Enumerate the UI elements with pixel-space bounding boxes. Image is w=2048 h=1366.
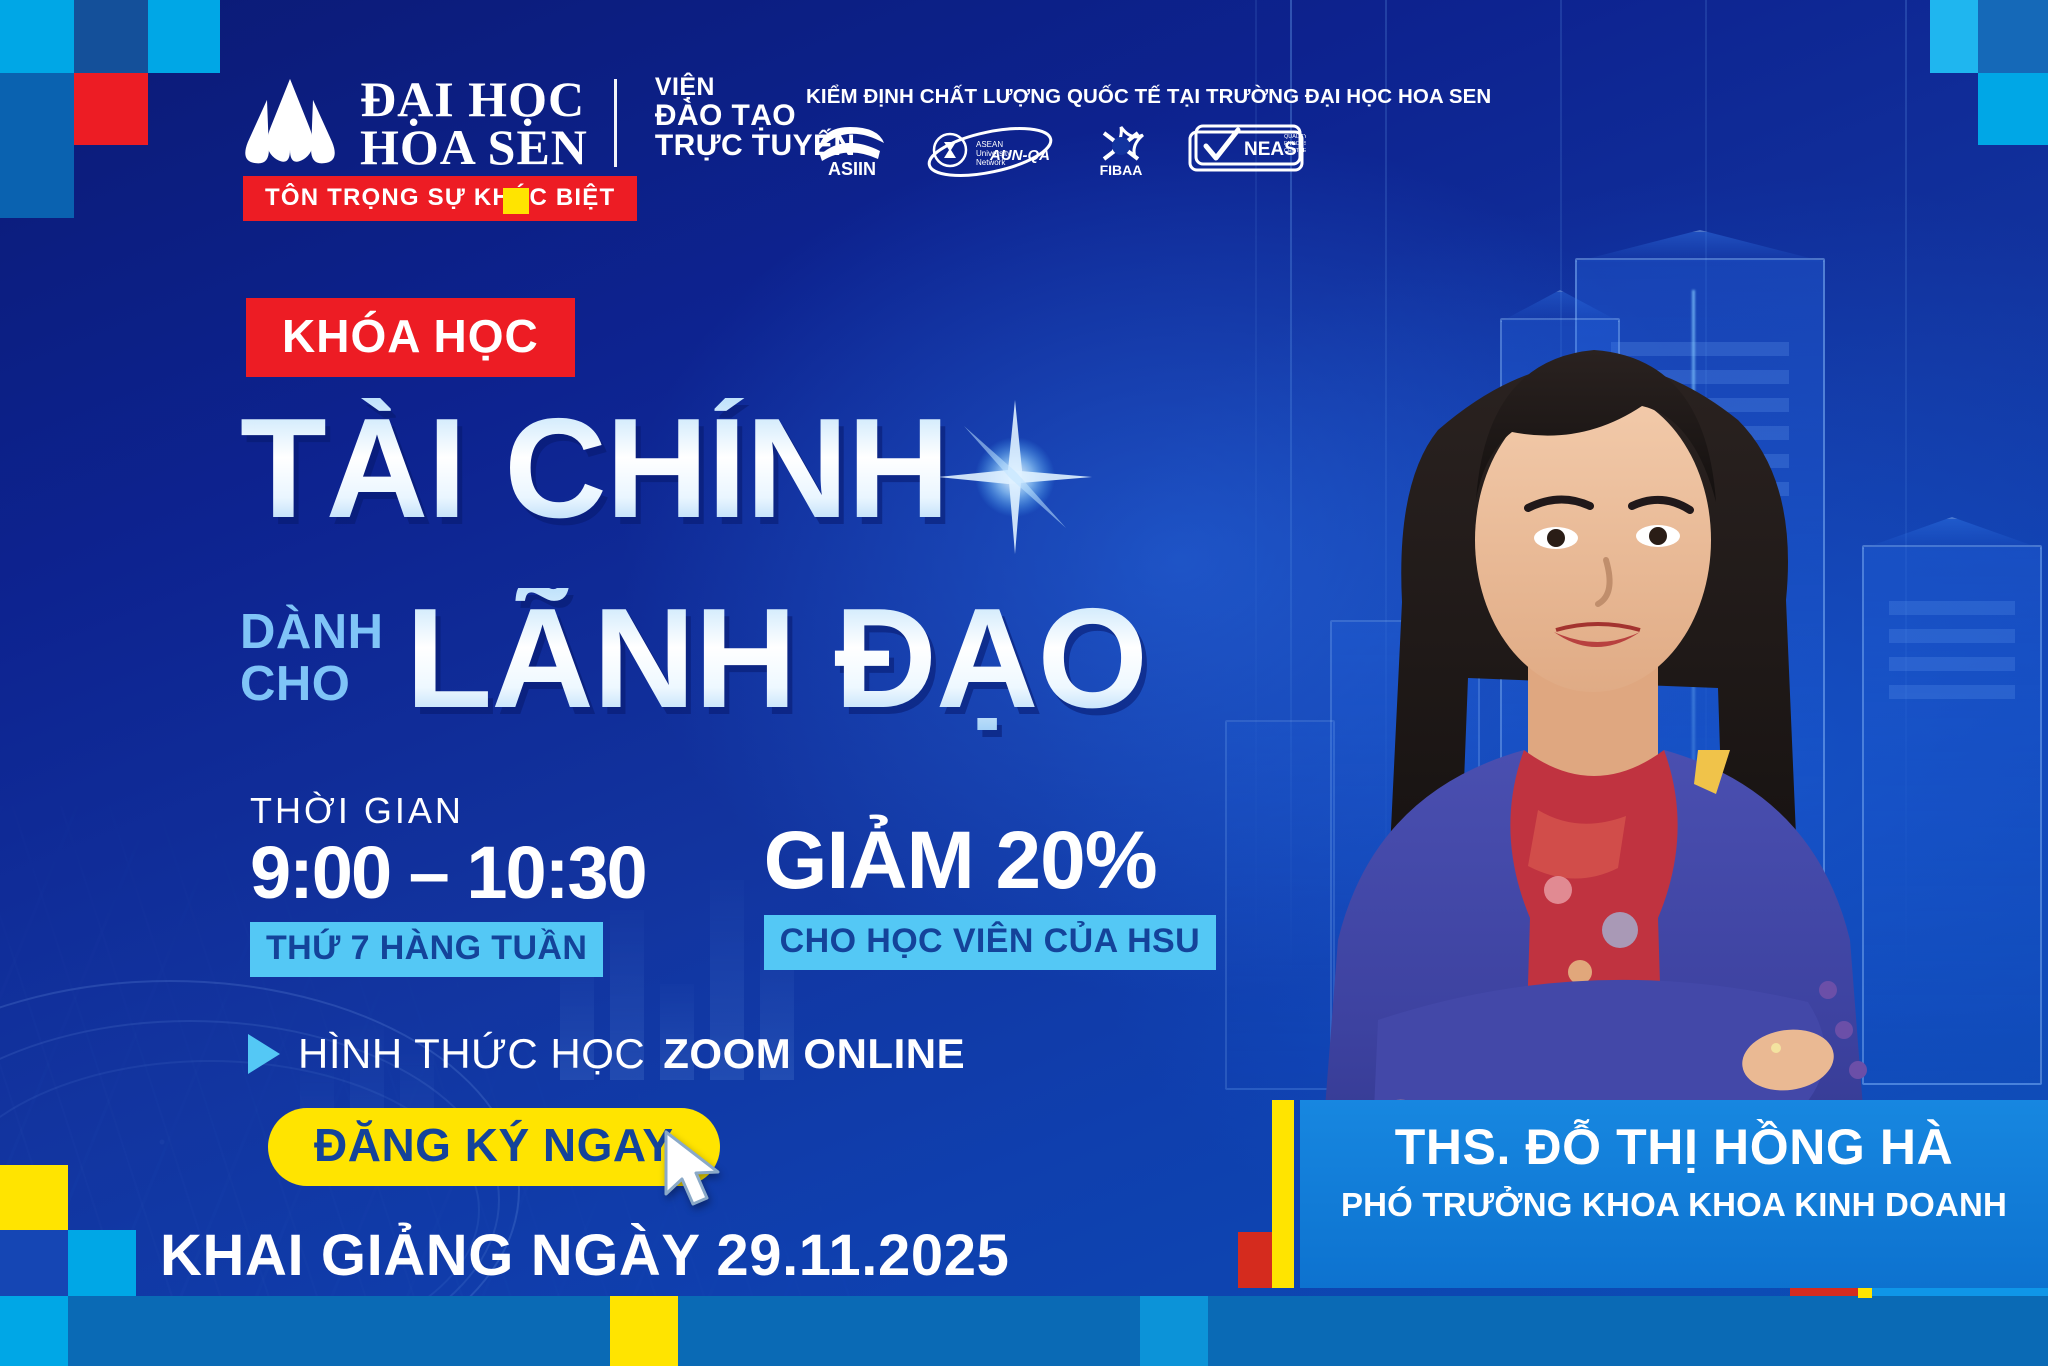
play-triangle-icon — [248, 1034, 280, 1074]
brand-logo[interactable]: ĐẠI HỌC HOA SEN VIỆN ĐÀO TẠO TRỰC TUYẾN — [242, 75, 855, 171]
fibaa-logo: FIBAA — [1082, 121, 1160, 179]
svg-text:CENTRE: CENTRE — [1284, 148, 1306, 154]
deco-stripe-yellow-speaker — [1272, 1100, 1294, 1288]
deco-block-navy-bl — [0, 1230, 68, 1296]
format-line: HÌNH THỨC HỌC ZOOM ONLINE — [248, 1030, 965, 1078]
time-block: THỜI GIAN 9:00 – 10:30 THỨ 7 HÀNG TUẦN — [250, 790, 646, 977]
title-prefix-line-2: CHO — [240, 659, 384, 711]
deco-block-red-speaker — [1238, 1232, 1274, 1288]
time-value: 9:00 – 10:30 — [250, 834, 646, 912]
deco-block-cyan-tr2 — [1978, 73, 2048, 145]
asiin-logo: ASIIN — [806, 121, 898, 179]
time-chip: THỨ 7 HÀNG TUẦN — [250, 922, 603, 977]
deco-block-cyan-tl2 — [148, 0, 220, 73]
speaker-name: THS. ĐỖ THỊ HỒNG HÀ — [1300, 1118, 2048, 1176]
register-button-label: ĐĂNG KÝ NGAY — [314, 1122, 674, 1168]
accreditation-section: KIỂM ĐỊNH CHẤT LƯỢNG QUỐC TẾ TẠI TRƯỜNG … — [806, 85, 1306, 181]
title-line-1: TÀI CHÍNH — [240, 398, 949, 540]
deco-block-yellow-bb — [610, 1296, 678, 1366]
university-line-2: HOA SEN — [360, 123, 588, 171]
discount-block: GIẢM 20% CHO HỌC VIÊN CỦA HSU — [764, 790, 1216, 970]
format-prefix: HÌNH THỨC HỌC — [298, 1030, 645, 1078]
svg-text:AUN-QA: AUN-QA — [989, 147, 1050, 164]
svg-text:ASIIN: ASIIN — [828, 159, 876, 179]
deco-block-cyan-bb — [1140, 1296, 1208, 1366]
accreditation-title: KIỂM ĐỊNH CHẤT LƯỢNG QUỐC TẾ TẠI TRƯỜNG … — [806, 85, 1306, 109]
info-section: THỜI GIAN 9:00 – 10:30 THỨ 7 HÀNG TUẦN G… — [250, 790, 1216, 977]
register-button[interactable]: ĐĂNG KÝ NGAY — [268, 1108, 720, 1186]
title-row-2: DÀNH CHO LÃNH ĐẠO — [240, 588, 1147, 730]
logo-divider — [614, 79, 617, 167]
svg-text:QUALITY: QUALITY — [1284, 134, 1306, 140]
deco-block-cyan-tl — [0, 0, 74, 73]
deco-block-cyan-bl2 — [0, 1296, 68, 1366]
svg-text:FIBAA: FIBAA — [1100, 162, 1143, 178]
discount-chip: CHO HỌC VIÊN CỦA HSU — [764, 915, 1216, 970]
format-value: ZOOM ONLINE — [663, 1030, 965, 1078]
deco-block-yellow-ribbon — [503, 188, 529, 214]
neas-logo: NEAS QUALITY ENDORSED CENTRE — [1186, 122, 1306, 178]
title-line-2: LÃNH ĐẠO — [406, 588, 1147, 730]
mouse-pointer-icon — [660, 1128, 732, 1212]
course-badge-label: KHÓA HỌC — [282, 310, 539, 362]
hoa-sen-lotus-mark — [242, 75, 338, 167]
deco-block-darkblue-tl — [74, 0, 148, 73]
start-date: KHAI GIẢNG NGÀY 29.11.2025 — [160, 1222, 1009, 1289]
time-label: THỜI GIAN — [250, 790, 646, 832]
university-name: ĐẠI HỌC HOA SEN — [360, 75, 588, 171]
title-prefix-line-1: DÀNH — [240, 607, 384, 659]
deco-block-yellow-bl — [0, 1165, 68, 1230]
deco-block-steel-tr — [1978, 0, 2048, 73]
title-prefix: DÀNH CHO — [240, 607, 384, 711]
bottom-bar — [68, 1296, 2048, 1366]
deco-block-cyan-bl — [68, 1230, 136, 1296]
aun-qa-logo: ASEAN University Network AUN-QA — [924, 122, 1056, 178]
sparkle-icon — [930, 392, 1100, 562]
brand-tagline: TÔN TRỌNG SỰ KHÁC BIỆT — [243, 176, 637, 221]
speaker-role: PHÓ TRƯỞNG KHOA KHOA KINH DOANH — [1300, 1186, 2048, 1224]
course-badge: KHÓA HỌC — [246, 298, 575, 377]
deco-block-cyan-tr — [1930, 0, 1978, 73]
deco-block-blue-tl — [0, 73, 74, 218]
promo-banner: ĐẠI HỌC HOA SEN VIỆN ĐÀO TẠO TRỰC TUYẾN … — [0, 0, 2048, 1366]
svg-text:ENDORSED: ENDORSED — [1284, 141, 1306, 147]
deco-block-red-tl — [74, 73, 148, 145]
university-line-1: ĐẠI HỌC — [360, 75, 588, 123]
speaker-portrait — [1228, 230, 1948, 1250]
discount-value: GIẢM 20% — [764, 818, 1216, 905]
